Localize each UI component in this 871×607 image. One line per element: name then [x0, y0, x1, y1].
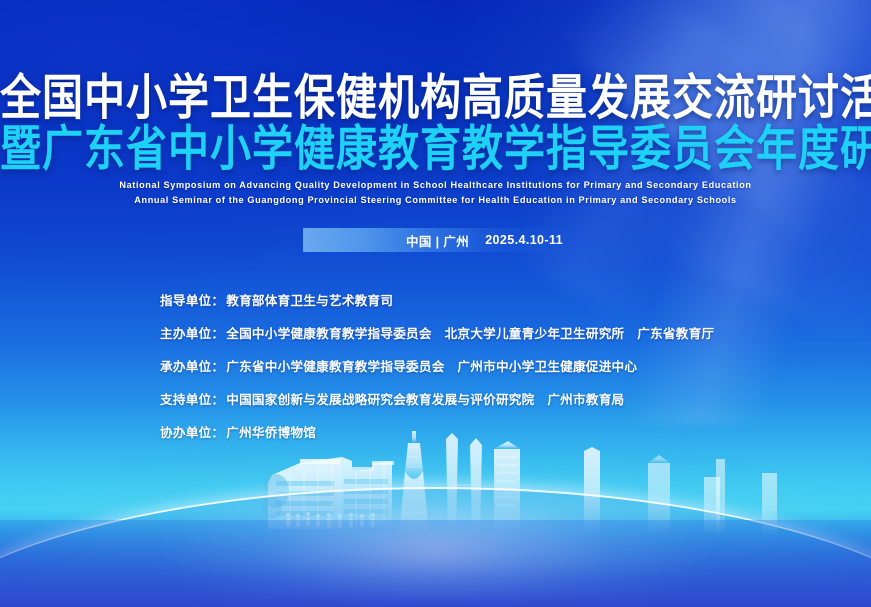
organizer-label: 指导单位：: [160, 294, 224, 308]
organizer-value: 全国中小学健康教育教学指导委员会 北京大学儿童青少年卫生研究所 广东省教育厅: [226, 327, 714, 341]
poster-title-block: 全国中小学卫生保健机构高质量发展交流研讨活动 暨广东省中小学健康教育教学指导委员…: [0, 74, 871, 166]
foreground-ground: [0, 520, 871, 607]
organizer-value: 中国国家创新与发展战略研究会教育发展与评价研究院 广州市教育局: [226, 393, 624, 407]
organizer-row: 协办单位：广州华侨博物馆: [160, 422, 840, 441]
organizer-value: 教育部体育卫生与艺术教育司: [226, 294, 393, 308]
title-line-1: 全国中小学卫生保健机构高质量发展交流研讨活动: [0, 74, 871, 122]
organizer-label: 支持单位：: [160, 393, 224, 407]
organizer-label: 协办单位：: [160, 426, 224, 440]
organizer-value: 广东省中小学健康教育教学指导委员会 广州市中小学卫生健康促进中心: [226, 360, 637, 374]
title-line-2: 暨广东省中小学健康教育教学指导委员会年度研讨活动: [0, 125, 871, 173]
organizer-row: 承办单位：广东省中小学健康教育教学指导委员会 广州市中小学卫生健康促进中心: [160, 356, 840, 375]
english-subtitle-line-2: Annual Seminar of the Guangdong Provinci…: [7, 193, 865, 208]
date-location-text: 中国 | 广州 2025.4.10-11: [303, 228, 569, 252]
organizer-row: 指导单位：教育部体育卫生与艺术教育司: [160, 290, 840, 309]
conference-poster: 全国中小学卫生保健机构高质量发展交流研讨活动 暨广东省中小学健康教育教学指导委员…: [0, 0, 871, 607]
organizer-label: 主办单位：: [160, 327, 224, 341]
organizer-label: 承办单位：: [160, 360, 224, 374]
location-text: 中国 | 广州: [406, 231, 469, 250]
organizer-list: 指导单位：教育部体育卫生与艺术教育司 主办单位：全国中小学健康教育教学指导委员会…: [160, 290, 840, 441]
organizer-row: 主办单位：全国中小学健康教育教学指导委员会 北京大学儿童青少年卫生研究所 广东省…: [160, 323, 840, 342]
english-subtitle-block: National Symposium on Advancing Quality …: [0, 178, 871, 207]
organizer-row: 支持单位：中国国家创新与发展战略研究会教育发展与评价研究院 广州市教育局: [160, 389, 840, 408]
english-subtitle-line-1: National Symposium on Advancing Quality …: [7, 178, 865, 193]
organizer-value: 广州华侨博物馆: [226, 426, 316, 440]
date-text: 2025.4.10-11: [485, 233, 563, 247]
